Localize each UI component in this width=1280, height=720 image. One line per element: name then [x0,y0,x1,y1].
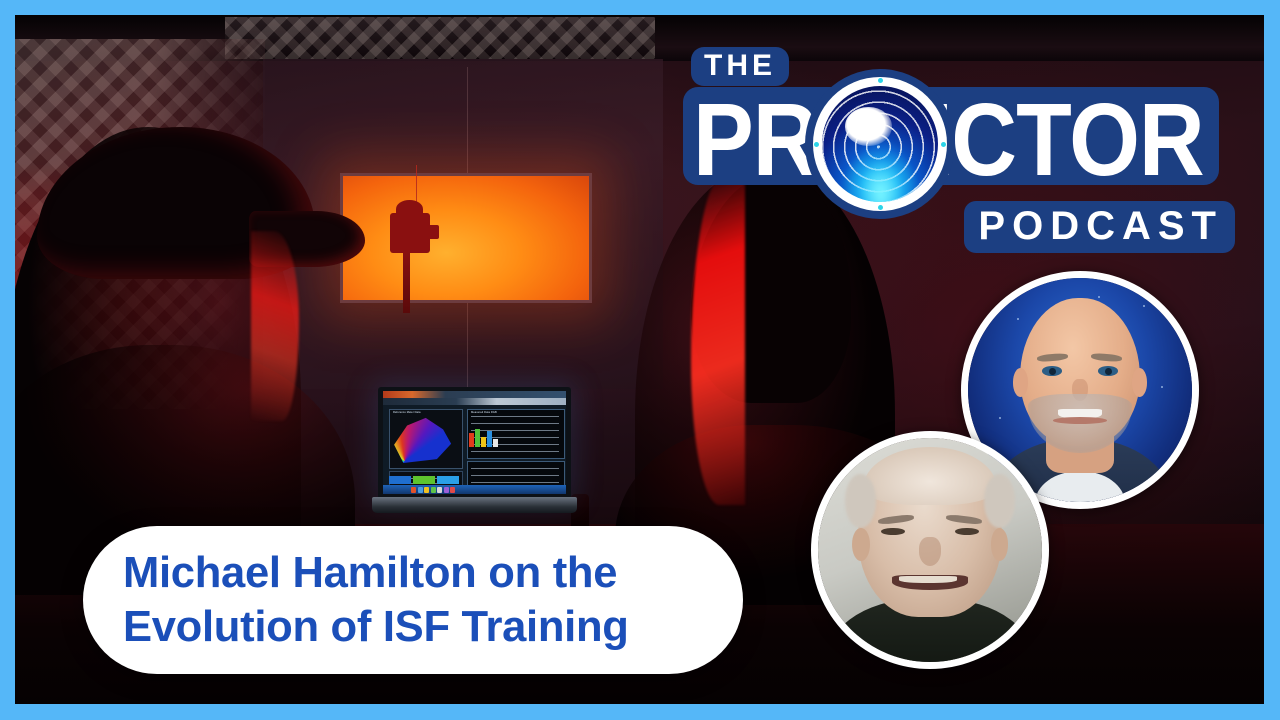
guest-ear-left [852,528,870,562]
thumbnail-stage: Reference Meter Data [15,15,1264,704]
episode-title-line-2: Evolution of ISF Training [123,600,707,654]
guest-nose [919,537,941,566]
logo-podcast-text: PODCAST [978,206,1223,246]
taskbar-icons [411,487,455,493]
ceiling-foam-panels [225,17,655,59]
guest-avatar[interactable] [811,431,1049,669]
lens-dot-bottom [878,205,883,210]
projection-screen [340,173,592,303]
color-swatch-row [389,476,459,484]
panel-c-label: Measured Data RGB [471,411,497,414]
panel-a-label: Reference Meter Data [393,411,421,414]
laptop-lid: Reference Meter Data [378,387,571,499]
host-lower-lip [1053,417,1107,424]
lens-dot-left [814,142,819,147]
rgb-bar-graph [469,429,498,447]
logo-the-badge: THE [691,47,789,86]
lens-highlight [845,107,891,146]
logo-the-text: THE [704,51,776,81]
host-ear-right [1132,368,1148,397]
laptop-screen: Reference Meter Data [383,391,566,494]
guest-hair-left [845,474,876,528]
camera-silhouette-icon [390,213,430,253]
app-titlebar [383,391,566,398]
lens-cyan-glow [845,139,917,202]
podcast-logo[interactable]: THE PR JECTOR PODCAST [683,41,1235,247]
tripod-silhouette [403,251,410,313]
lens-dot-top [878,78,883,83]
projected-orange-image [343,176,589,300]
red-rim-light-left [251,231,299,421]
laptop: Reference Meter Data [372,387,577,519]
guest-teeth [899,576,957,584]
episode-title-line-1: Michael Hamilton on the [123,546,707,600]
laptop-keyboard-base [372,497,577,513]
episode-title-card: Michael Hamilton on the Evolution of ISF… [83,526,743,674]
lens-dot-right [941,142,946,147]
os-taskbar [383,485,566,494]
app-toolbar [383,398,566,405]
logo-podcast-badge: PODCAST [964,201,1235,253]
video-thumbnail: Reference Meter Data [0,0,1280,720]
guest-hair-right [984,474,1015,528]
lens-body [822,86,938,202]
camera-lens-icon [805,69,955,219]
